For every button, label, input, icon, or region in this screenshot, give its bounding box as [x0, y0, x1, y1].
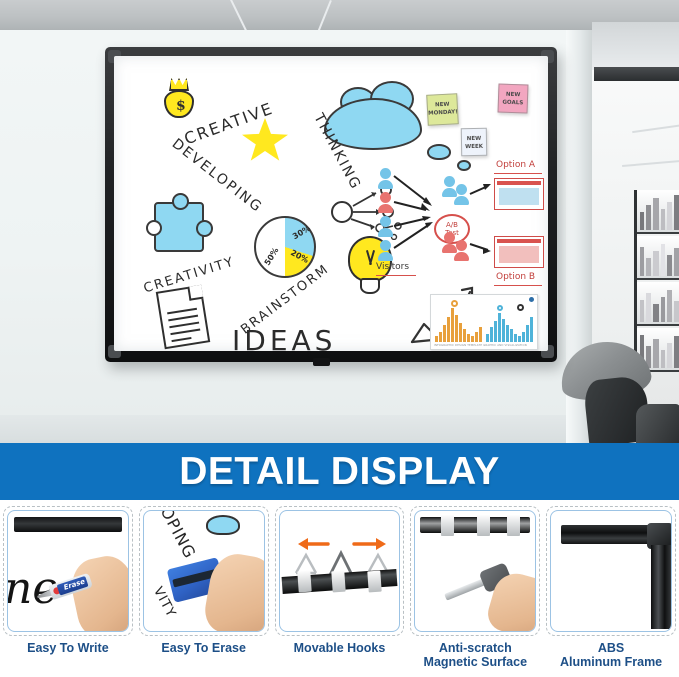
infographic-bar	[526, 325, 529, 342]
option-a-underline	[494, 173, 542, 174]
hook-clip	[477, 515, 490, 536]
infographic-bar	[502, 319, 505, 342]
option-b-underline	[494, 285, 542, 286]
ab-test-diagram: A/B Test Visitors Option	[376, 162, 548, 298]
marker-tray-hook	[313, 358, 330, 366]
book	[640, 300, 644, 322]
option-b-mockup	[494, 236, 544, 268]
visitors-label: Visitors	[376, 262, 409, 272]
book	[674, 248, 679, 276]
hook-clip	[507, 515, 520, 536]
shelf-row	[637, 282, 679, 326]
frame-rail	[14, 517, 122, 532]
panel-caption: Movable Hooks	[294, 641, 386, 655]
panel-caption: Easy To Write	[27, 641, 109, 655]
panel-caption-line2: Aluminum Frame	[560, 655, 662, 669]
room-scene: $ CREATIVE THINKING DEVELOPING	[0, 0, 679, 443]
door-header	[594, 67, 679, 81]
infographic-bar	[479, 327, 482, 342]
infographic-bar	[537, 329, 538, 342]
group-a-person	[454, 184, 469, 205]
infographic-bar	[514, 334, 517, 342]
book	[667, 255, 672, 276]
panel-caption-line1: Anti-scratch	[424, 641, 528, 655]
ceiling-light	[622, 159, 679, 167]
option-a-mockup	[494, 178, 544, 210]
detail-panels-row: ne Erase Easy To Write OPING	[0, 502, 679, 677]
book	[661, 209, 665, 230]
book	[674, 301, 679, 322]
infographic-caption: INFOGRAPHIC DESIGN TEMPLATE GRAPHIC AND …	[434, 344, 534, 348]
infographic-bar	[506, 325, 509, 342]
option-b-label: Option B	[496, 272, 535, 282]
doodle-text-ideas: IDEAS	[232, 324, 336, 351]
detail-panel-easy-to-write[interactable]: ne Erase Easy To Write	[0, 502, 136, 677]
book	[646, 205, 651, 230]
whiteboard[interactable]: $ CREATIVE THINKING DEVELOPING	[105, 47, 557, 362]
visitors-underline	[376, 275, 416, 276]
hook-clip	[297, 571, 311, 593]
panel-dashed-border	[410, 506, 540, 636]
visitor-arrows	[392, 168, 440, 254]
panel-caption: Anti-scratch Magnetic Surface	[424, 641, 528, 669]
dollar-symbol: $	[176, 98, 186, 114]
infographic-bar	[494, 321, 497, 342]
panel-image-abs-frame	[550, 510, 672, 632]
board-text-oping: OPING	[156, 510, 199, 562]
infographic-bar	[443, 325, 446, 342]
panel-caption-line2: Magnetic Surface	[424, 655, 528, 669]
book	[661, 244, 665, 276]
panel-image-hooks	[279, 510, 401, 632]
printed-infographic: INFOGRAPHIC DESIGN TEMPLATE GRAPHIC AND …	[430, 294, 538, 350]
panel-dashed-border: OPING VITY RM	[139, 506, 269, 636]
ab-test-line1: A/B	[436, 221, 468, 229]
infographic-bar	[518, 336, 521, 342]
frame-top-rail	[561, 525, 655, 544]
sticky-line-2: MONDAY!	[428, 109, 457, 118]
visitor-icon	[378, 168, 393, 189]
ceiling-light	[632, 123, 679, 133]
variant-arrows	[468, 178, 494, 258]
hook-clip	[441, 515, 454, 536]
book	[674, 195, 679, 230]
book	[646, 258, 651, 276]
infographic-bar	[455, 315, 458, 342]
sticky-note-goals[interactable]: NEW GOALS	[498, 83, 529, 113]
book	[653, 304, 659, 322]
panel-image-anti-scratch	[414, 510, 536, 632]
movable-arrows	[294, 535, 390, 553]
sticky-note-monday[interactable]: NEW MONDAY!	[426, 93, 459, 126]
detail-panel-anti-scratch[interactable]: Anti-scratch Magnetic Surface	[407, 502, 543, 677]
frame-side-rail	[651, 545, 672, 629]
infographic-bar	[475, 332, 478, 343]
book	[667, 202, 672, 230]
panel-dashed-border: ne Erase	[3, 506, 133, 636]
visitor-icon	[378, 216, 393, 237]
panel-caption: Easy To Erase	[161, 641, 246, 655]
cloud-small-icon	[427, 144, 451, 160]
infographic-bar	[447, 317, 450, 342]
product-detail-page: $ CREATIVE THINKING DEVELOPING	[0, 0, 679, 677]
book	[640, 212, 644, 230]
book	[640, 247, 644, 276]
panel-caption-line1: Movable Hooks	[294, 641, 386, 655]
book	[667, 290, 672, 322]
infographic-bar	[530, 317, 533, 342]
hook-clip	[367, 571, 381, 593]
puzzle-piece-icon	[154, 202, 204, 252]
panel-image-write: ne Erase	[7, 510, 129, 632]
whiteboard-surface: $ CREATIVE THINKING DEVELOPING	[114, 56, 548, 351]
money-bag-icon: $	[162, 78, 196, 118]
panel-caption: ABS Aluminum Frame	[560, 641, 662, 669]
panel-dashed-border	[275, 506, 405, 636]
detail-panel-easy-to-erase[interactable]: OPING VITY RM Easy To Erase	[136, 502, 272, 677]
visitor-icon	[378, 192, 393, 213]
detail-display-banner: DETAIL DISPLAY	[0, 443, 679, 500]
cloud-icon	[206, 515, 240, 535]
whiteboard-frame: $ CREATIVE THINKING DEVELOPING	[105, 47, 557, 362]
group-b-person	[454, 240, 469, 261]
shelf-row	[637, 190, 679, 234]
book	[661, 297, 665, 322]
hook-clip	[331, 571, 345, 593]
infographic-bar	[498, 313, 501, 342]
wall-baseboard	[0, 415, 590, 443]
sticky-line-2: GOALS	[499, 99, 527, 108]
sticky-line-2: WEEK	[462, 144, 486, 152]
detail-panel-movable-hooks[interactable]: Movable Hooks	[272, 502, 408, 677]
infographic-bar	[467, 334, 470, 342]
panel-image-erase: OPING VITY RM	[143, 510, 265, 632]
adjacent-ceiling	[592, 22, 679, 70]
infographic-bar	[510, 329, 513, 342]
ceiling	[0, 0, 679, 30]
office-chair	[540, 342, 679, 443]
banner-title: DETAIL DISPLAY	[179, 450, 500, 494]
visitor-icon	[378, 240, 393, 261]
book	[653, 251, 659, 276]
document-icon	[156, 285, 211, 349]
shelf-row	[637, 236, 679, 280]
sticky-note-week[interactable]: NEW WEEK	[461, 128, 487, 156]
infographic-bar	[522, 332, 525, 343]
infographic-bar	[490, 327, 493, 342]
book	[646, 293, 651, 322]
panel-caption-line1: Easy To Erase	[161, 641, 246, 655]
infographic-bar	[439, 332, 442, 343]
panel-dashed-border	[546, 506, 676, 636]
book	[653, 198, 659, 230]
infographic-bar	[451, 308, 454, 342]
detail-panel-abs-frame[interactable]: ABS Aluminum Frame	[543, 502, 679, 677]
panel-caption-line1: ABS	[560, 641, 662, 655]
infographic-bar	[435, 336, 438, 342]
infographic-bar	[471, 336, 474, 342]
panel-caption-line1: Easy To Write	[27, 641, 109, 655]
option-a-label: Option A	[496, 160, 535, 170]
infographic-bar	[459, 323, 462, 342]
infographic-bar	[486, 334, 489, 342]
infographic-bar	[463, 329, 466, 342]
chair-armrest	[636, 404, 679, 443]
